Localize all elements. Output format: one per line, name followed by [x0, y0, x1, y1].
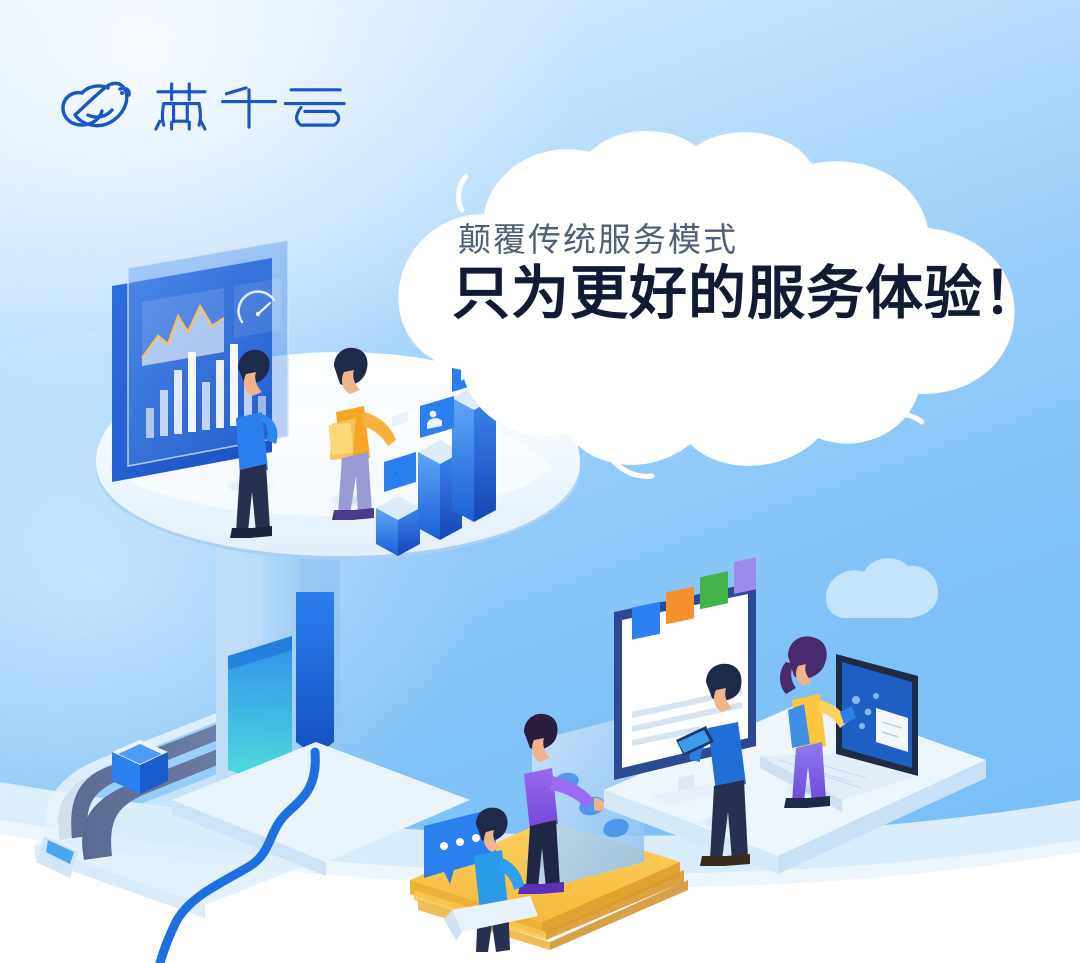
support-pillar: [172, 516, 470, 876]
swallow-cloud-icon: [58, 79, 138, 135]
promo-banner: 颠覆传统服务模式 只为更好的服务体验！: [0, 0, 1080, 963]
headline-subtitle: 颠覆传统服务模式: [458, 222, 1012, 258]
iso-bar-1: [376, 496, 420, 556]
small-cloud: [826, 558, 938, 618]
headline-block: 颠覆传统服务模式 只为更好的服务体验！: [452, 222, 1012, 327]
dashboard-gauge: [234, 278, 282, 338]
headline-title: 只为更好的服务体验！: [452, 262, 1012, 327]
brand-logo[interactable]: [58, 78, 348, 135]
brand-wordmark: [152, 78, 348, 135]
